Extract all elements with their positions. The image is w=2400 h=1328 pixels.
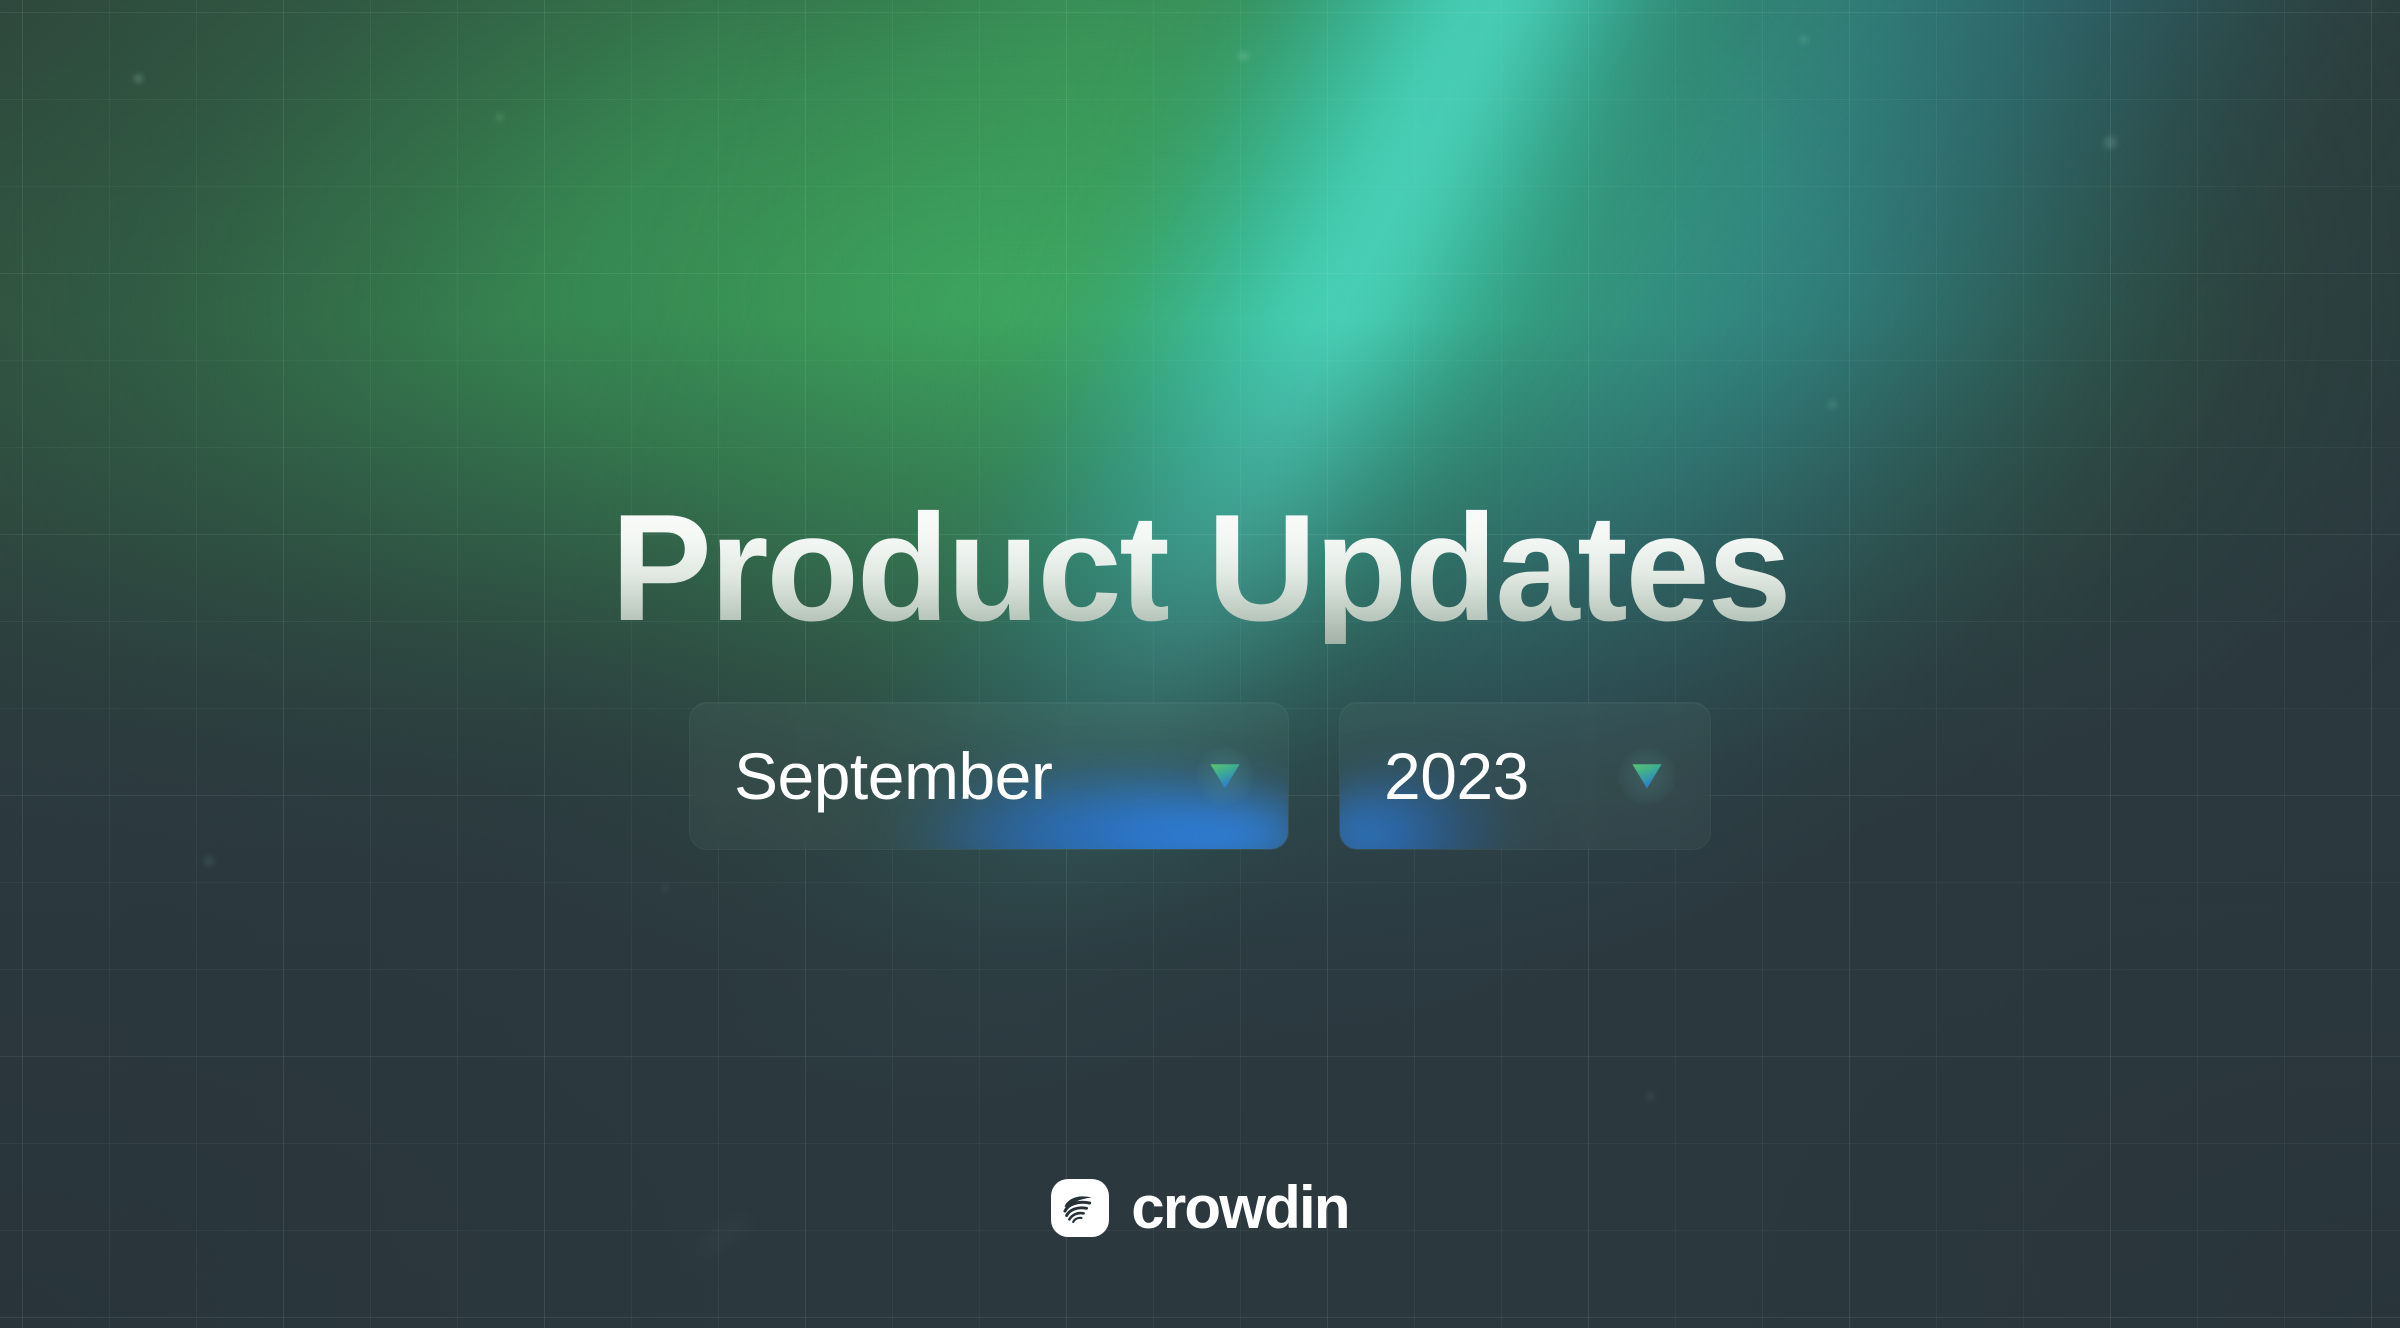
chevron-down-icon[interactable]: [1618, 747, 1676, 805]
month-selector-label: September: [734, 743, 1052, 809]
page-title: Product Updates: [0, 492, 2400, 644]
crowdin-logo-icon: [1051, 1179, 1109, 1237]
period-selector-row: September: [0, 702, 2400, 850]
month-selector-button[interactable]: September: [689, 702, 1289, 850]
chevron-down-icon[interactable]: [1196, 747, 1254, 805]
year-selector-label: 2023: [1384, 743, 1529, 809]
brand-name: crowdin: [1131, 1178, 1348, 1238]
brand-lockup: crowdin: [0, 1178, 2400, 1238]
year-selector-button[interactable]: 2023: [1339, 702, 1711, 850]
hero-banner: Product Updates September: [0, 0, 2400, 1328]
